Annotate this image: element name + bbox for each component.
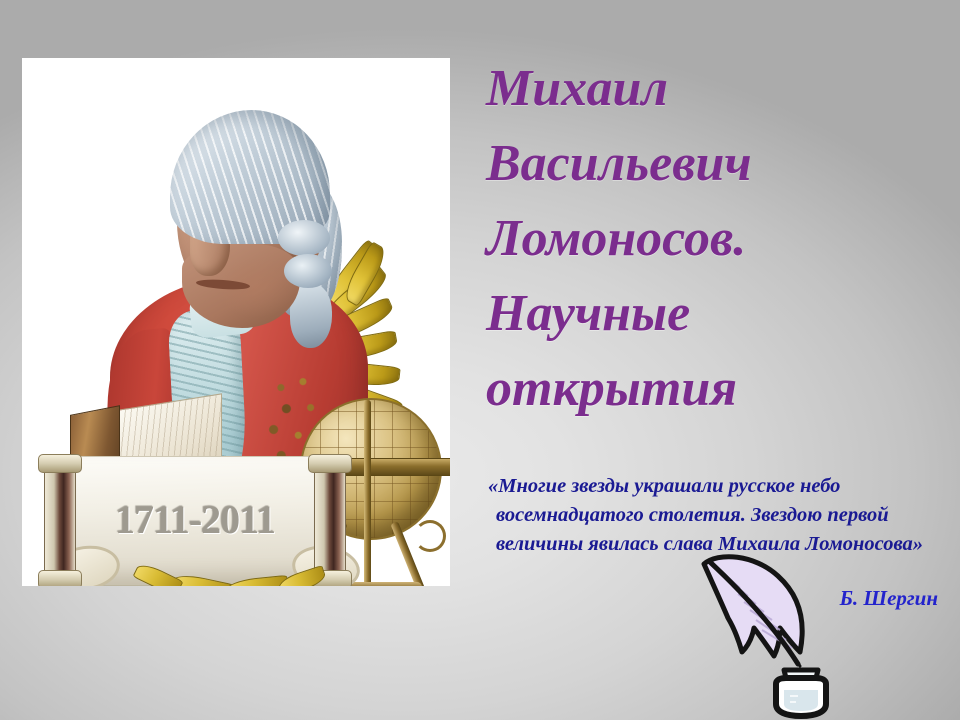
globe-axis [364, 400, 371, 586]
lomonosov-illustration: 1711-2011 [22, 58, 450, 586]
title-line-3: Ломоносов. [486, 202, 942, 277]
wig-curl-upper [278, 220, 330, 256]
title-line-2: Васильевич [486, 127, 942, 202]
title-line-5: открытия [486, 352, 942, 427]
scroll-cap-left-bottom [38, 570, 82, 586]
anniversary-years-text: 1711-2011 [60, 496, 330, 543]
quill-icon [700, 548, 860, 720]
illustration-canvas: 1711-2011 [22, 58, 450, 586]
presentation-slide: 1711-2011 Михаил Васильевич Ломоносов. Н… [0, 0, 960, 720]
globe-scrollwork-right [414, 520, 446, 552]
epigraph-quote: «Многие звезды украшали русское небо вос… [488, 472, 948, 559]
quill-and-inkwell [700, 548, 860, 720]
scroll-cap-left-top [38, 454, 82, 473]
slide-title: Михаил Васильевич Ломоносов. Научные отк… [486, 52, 942, 426]
title-line-1: Михаил [486, 52, 942, 127]
title-line-4: Научные [486, 277, 942, 352]
wig-curl-lower [284, 254, 332, 288]
scroll-cap-right-top [308, 454, 352, 473]
